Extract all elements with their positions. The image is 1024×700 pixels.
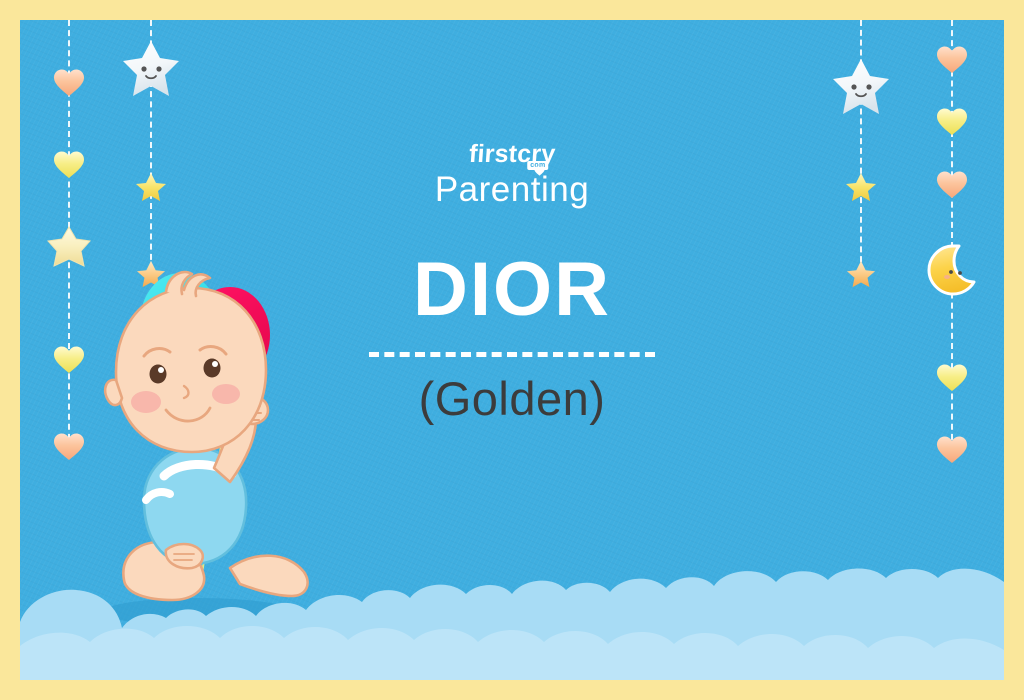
heart-yellow-3 [936, 107, 968, 141]
heart-peach-5 [936, 435, 968, 469]
brand-logo: firstcry com Parenting [20, 142, 1004, 209]
logo-firstcry: firstcry com [468, 142, 556, 167]
dashed-divider [369, 352, 655, 357]
baby-figure [105, 272, 307, 600]
star-face-white-2 [827, 56, 895, 127]
star-face-white-1 [117, 38, 185, 109]
page-frame: firstcry com Parenting DIOR (Golden) [0, 0, 1024, 700]
logo-parenting: Parenting [20, 172, 1004, 209]
heart-icon [534, 166, 545, 176]
name-card: firstcry com Parenting DIOR (Golden) [20, 20, 1004, 680]
heart-peach-3 [936, 45, 968, 79]
heart-peach-1 [53, 68, 85, 102]
cloud-band [20, 560, 1004, 680]
logo-parenting-text: Parenting [435, 170, 589, 209]
